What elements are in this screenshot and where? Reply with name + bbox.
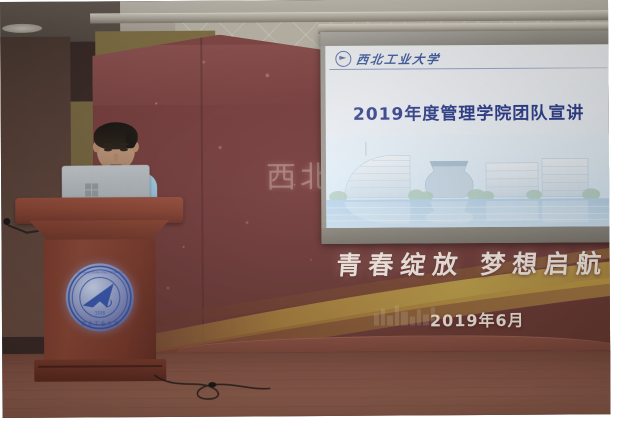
screenshot-root: 西北 青春绽放 梦想启航 2019年6月 — [0, 0, 620, 422]
podium-top — [15, 197, 183, 224]
microphone-head — [3, 218, 10, 225]
screen-bottom-border — [321, 226, 610, 244]
speaker-nose — [114, 153, 118, 161]
university-name-text: 西北工业大学 — [355, 50, 441, 68]
svg-text:1938: 1938 — [95, 310, 106, 315]
slide-header-rule — [329, 67, 607, 70]
slide-header: 西北工业大学 — [325, 44, 610, 72]
svg-text:NORTHWESTERN POLYTECHNICAL: NORTHWESTERN POLYTECHNICAL — [74, 270, 125, 274]
backdrop-date: 2019年6月 — [430, 307, 525, 332]
speaker-eyebrow-left — [103, 143, 113, 145]
photograph: 西北 青春绽放 梦想启航 2019年6月 — [0, 0, 611, 418]
projection-screen: 西北工业大学 2019年度管理学院团队宣讲 — [320, 30, 610, 244]
presentation-slide: 西北工业大学 2019年度管理学院团队宣讲 — [325, 44, 610, 228]
backdrop-slogan: 青春绽放 梦想启航 — [335, 244, 610, 282]
slide-campus-photo — [326, 134, 611, 228]
speaker-eyebrow-right — [119, 143, 129, 145]
laptop-logo-icon — [85, 183, 98, 196]
speaker-hair — [94, 122, 138, 149]
floor-cable — [152, 370, 272, 407]
slide-title: 2019年度管理学院团队宣讲 — [326, 98, 611, 125]
svg-text:西 北 工 业 大 学: 西 北 工 业 大 学 — [81, 320, 119, 327]
podium-base — [34, 359, 166, 382]
university-logo-icon — [335, 51, 351, 67]
university-emblem: NORTHWESTERN POLYTECHNICAL 西 北 工 业 大 学 1… — [66, 263, 134, 331]
